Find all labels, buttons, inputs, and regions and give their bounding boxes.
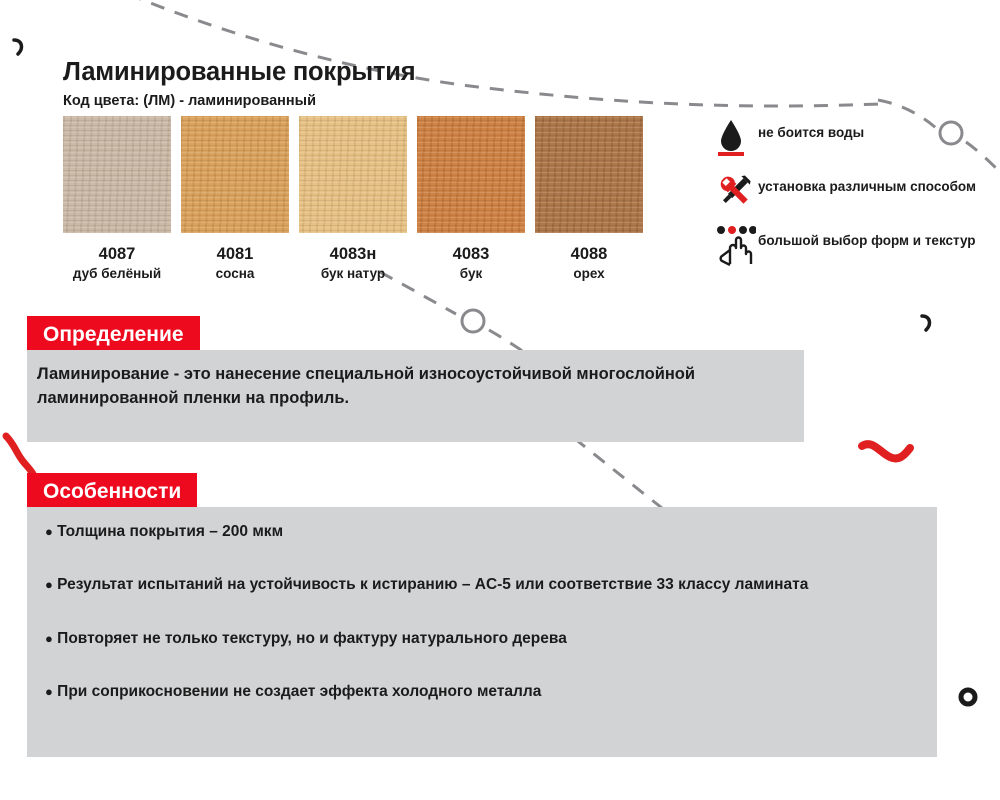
bullet-marker: ● (45, 684, 53, 699)
feature-list: не боится воды установка разл (716, 116, 986, 278)
comma-mark-icon (14, 40, 21, 54)
list-item: ● При соприкосновении не создает эффекта… (45, 680, 925, 703)
dashed-curve-icon (574, 438, 662, 508)
swatch-name: орех (535, 266, 643, 282)
list-item-label: Повторяет не только текстуру, но и факту… (57, 630, 567, 647)
red-squiggle-icon (862, 444, 910, 458)
tools-wrench-screwdriver-icon (716, 170, 758, 212)
specifics-list: ● Толщина покрытия – 200 мкм ● Результат… (45, 520, 925, 733)
swatch-name: сосна (181, 266, 289, 282)
swatch-item[interactable]: 4083н бук натур (299, 116, 407, 281)
list-item-label: Результат испытаний на устойчивость к ис… (57, 576, 808, 593)
page-header: Ламинированные покрытия Код цвета: (ЛМ) … (63, 58, 683, 111)
swatch-code: 4081 (181, 245, 289, 264)
wood-swatch[interactable] (63, 116, 171, 233)
feature-item: не боится воды (716, 116, 986, 158)
swatch-item[interactable]: 4083 бук (417, 116, 525, 281)
water-drop-icon (716, 116, 758, 158)
page-title: Ламинированные покрытия (63, 58, 683, 87)
wood-swatch[interactable] (535, 116, 643, 233)
bullet-marker: ● (45, 631, 53, 646)
swatch-item[interactable]: 4088 орех (535, 116, 643, 281)
swatch-item[interactable]: 4087 дуб белёный (63, 116, 171, 281)
swatch-code: 4088 (535, 245, 643, 264)
list-item: ● Результат испытаний на устойчивость к … (45, 573, 925, 596)
list-item: ● Толщина покрытия – 200 мкм (45, 520, 925, 543)
page-subtitle: Код цвета: (ЛМ) - ламинированный (63, 93, 683, 110)
swatch-name: бук (417, 266, 525, 282)
list-item-label: Толщина покрытия – 200 мкм (57, 523, 283, 540)
feature-label: большой выбор форм и текстур (758, 224, 976, 248)
swatch-code: 4087 (63, 245, 171, 264)
definition-body: Ламинирование - это нанесение специально… (37, 363, 757, 411)
hand-pointing-dots-icon (716, 224, 758, 266)
wood-swatch[interactable] (181, 116, 289, 233)
wood-swatch[interactable] (299, 116, 407, 233)
swatch-name: бук натур (299, 266, 407, 282)
swatch-name: дуб белёный (63, 266, 171, 282)
bullet-marker: ● (45, 577, 53, 592)
list-item-label: При соприкосновении не создает эффекта х… (57, 683, 541, 700)
list-item: ● Повторяет не только текстуру, но и фак… (45, 627, 925, 650)
bullet-marker: ● (45, 524, 53, 539)
swatch-code: 4083н (299, 245, 407, 264)
feature-item: большой выбор форм и текстур (716, 224, 986, 266)
circle-node-icon (462, 310, 484, 332)
feature-item: установка различным способом (716, 170, 986, 212)
feature-label: установка различным способом (758, 170, 976, 194)
poster-page: Ламинированные покрытия Код цвета: (ЛМ) … (0, 0, 1000, 800)
swatch-code: 4083 (417, 245, 525, 264)
ring-mark-icon (961, 690, 975, 704)
comma-mark-icon (922, 316, 929, 330)
wood-swatch[interactable] (417, 116, 525, 233)
color-swatch-row: 4087 дуб белёный 4081 сосна 4083н бук на… (63, 116, 643, 281)
swatch-item[interactable]: 4081 сосна (181, 116, 289, 281)
feature-label: не боится воды (758, 116, 864, 140)
